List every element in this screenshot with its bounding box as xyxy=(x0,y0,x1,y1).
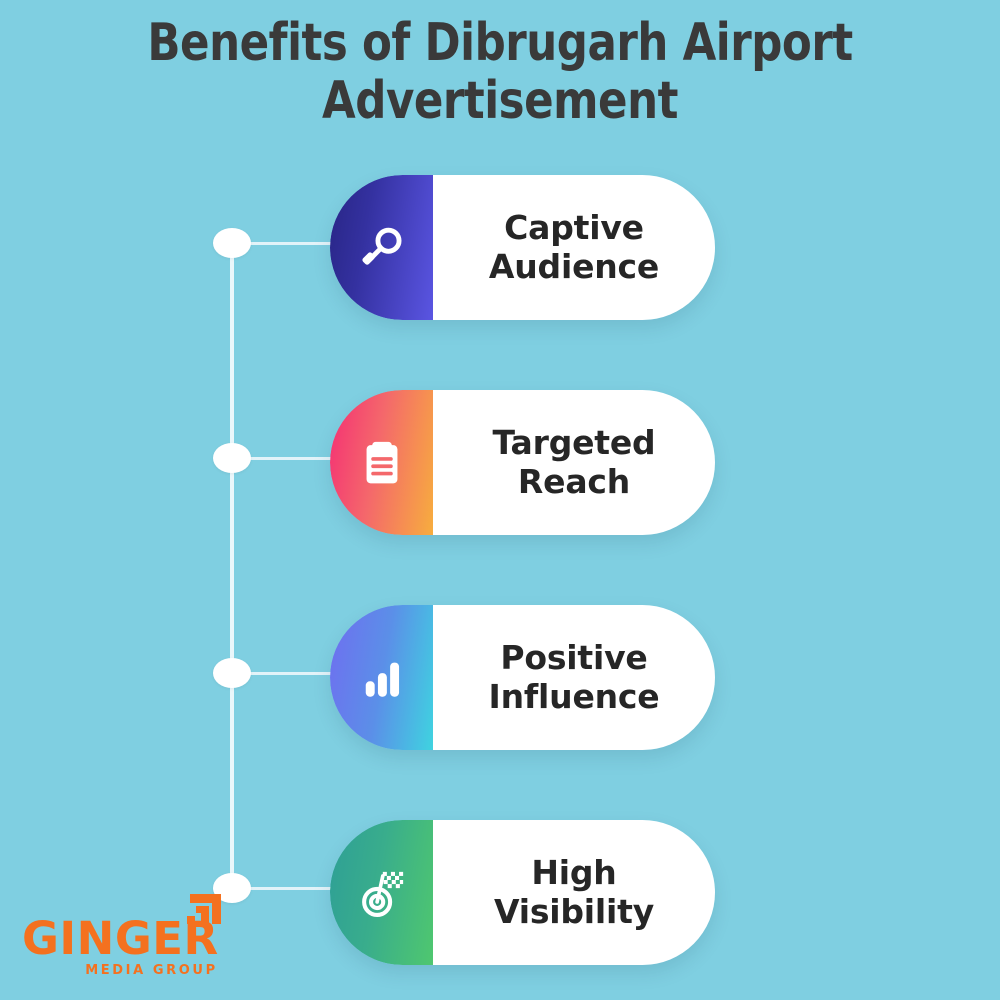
text-panel-positive-influence: Positive Influence xyxy=(433,605,715,750)
benefit-card-high-visibility[interactable]: High Visibility xyxy=(330,820,715,965)
logo-tagline: MEDIA GROUP xyxy=(22,963,237,978)
benefit-card-captive-audience[interactable]: Captive Audience xyxy=(330,175,715,320)
connector-node-3 xyxy=(213,658,251,688)
magnifier-icon xyxy=(356,222,408,274)
icon-panel-positive-influence xyxy=(330,605,433,750)
text-panel-high-visibility: High Visibility xyxy=(433,820,715,965)
text-panel-captive-audience: Captive Audience xyxy=(433,175,715,320)
clipboard-icon xyxy=(356,437,408,489)
logo-row: GINGER xyxy=(22,916,237,962)
connector-vertical-line xyxy=(230,243,234,898)
target-flag-icon xyxy=(356,867,408,919)
benefit-card-positive-influence[interactable]: Positive Influence xyxy=(330,605,715,750)
text-panel-targeted-reach: Targeted Reach xyxy=(433,390,715,535)
benefit-label-positive-influence: Positive Influence xyxy=(479,639,670,716)
benefit-label-high-visibility: High Visibility xyxy=(484,854,664,931)
benefit-card-targeted-reach[interactable]: Targeted Reach xyxy=(330,390,715,535)
benefit-label-targeted-reach: Targeted Reach xyxy=(483,424,666,501)
page-title: Benefits of Dibrugarh Airport Advertisem… xyxy=(0,14,1000,130)
page-title-line-2: Advertisement xyxy=(35,72,965,130)
icon-panel-high-visibility xyxy=(330,820,433,965)
connector-node-1 xyxy=(213,228,251,258)
page-title-line-1: Benefits of Dibrugarh Airport xyxy=(35,14,965,72)
icon-panel-targeted-reach xyxy=(330,390,433,535)
icon-panel-captive-audience xyxy=(330,175,433,320)
connector-node-2 xyxy=(213,443,251,473)
bar-chart-icon xyxy=(356,652,408,704)
nested-square-arrow-mark-icon xyxy=(187,894,221,924)
brand-logo[interactable]: GINGER MEDIA GROUP xyxy=(22,916,237,978)
benefit-label-captive-audience: Captive Audience xyxy=(479,209,669,286)
